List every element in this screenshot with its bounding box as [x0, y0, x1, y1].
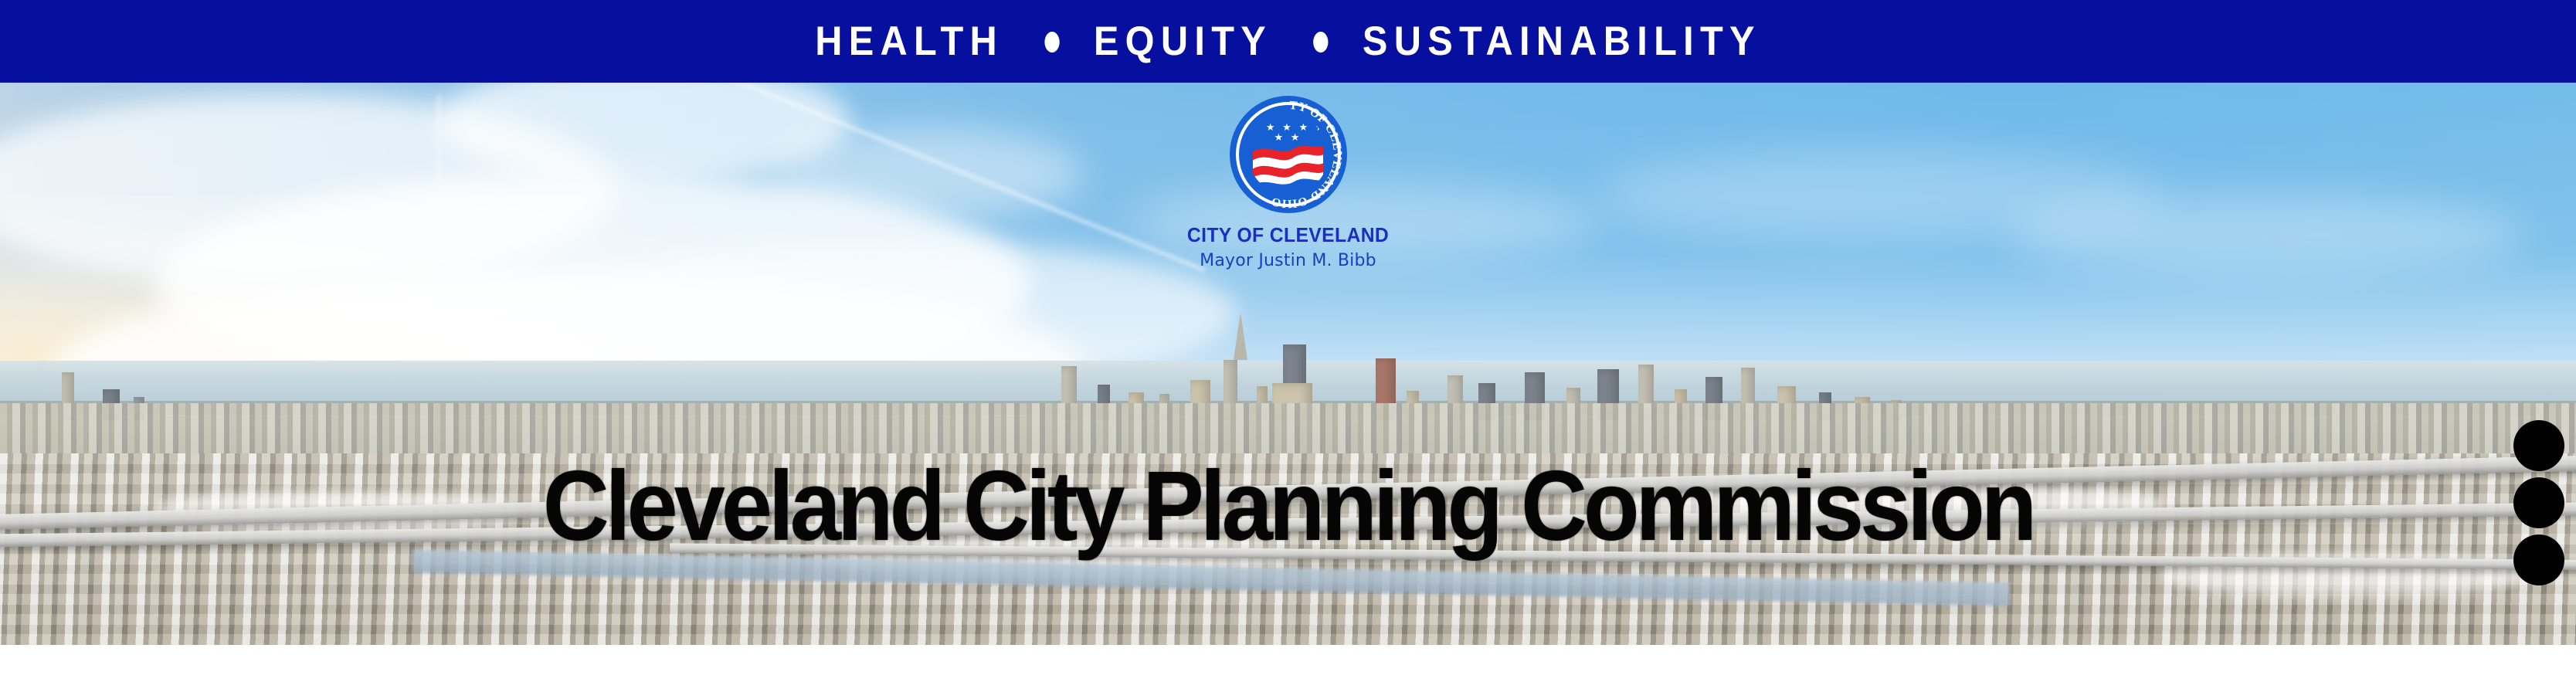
social-links	[2513, 420, 2564, 585]
city-name-caption: CITY OF CLEVELAND	[1187, 223, 1389, 247]
banner-tagline: HEALTH EQUITY SUSTAINABILITY	[813, 21, 1762, 62]
banner-word-equity: EQUITY	[1092, 21, 1274, 62]
terminal-tower-spire	[1234, 312, 1247, 360]
seal-inner-emblem: ★ ★ ★ ★ ★ ★ ★	[1248, 114, 1329, 195]
banner-dot-separator-1	[1044, 32, 1059, 53]
waving-flag-icon	[1253, 141, 1324, 185]
page-root: HEALTH EQUITY SUSTAINABILITY	[0, 0, 2576, 682]
instagram-icon	[2523, 487, 2555, 519]
instagram-link[interactable]	[2513, 477, 2564, 528]
banner-word-health: HEALTH	[813, 21, 1004, 62]
youtube-link[interactable]	[2513, 420, 2564, 471]
youtube-icon	[2523, 429, 2555, 462]
mayor-name-caption: Mayor Justin M. Bibb	[1200, 251, 1376, 270]
banner-dot-separator-2	[1313, 32, 1328, 53]
top-banner: HEALTH EQUITY SUSTAINABILITY	[0, 0, 2576, 83]
facebook-link[interactable]	[2513, 534, 2564, 585]
cleveland-city-seal-icon: CITY OF CLEVELAND OHIO ★ ★ ★ ★ ★ ★ ★	[1230, 96, 1347, 213]
seal-stars: ★ ★ ★ ★ ★ ★ ★	[1248, 122, 1329, 142]
banner-word-sustainability: SUSTAINABILITY	[1361, 21, 1763, 62]
city-logo-block: CITY OF CLEVELAND OHIO ★ ★ ★ ★ ★ ★ ★ CIT…	[0, 83, 2576, 270]
page-title: Cleveland City Planning Commission	[90, 457, 2486, 556]
hero-photo: CITY OF CLEVELAND OHIO ★ ★ ★ ★ ★ ★ ★ CIT…	[0, 83, 2576, 645]
facebook-icon	[2523, 544, 2555, 576]
